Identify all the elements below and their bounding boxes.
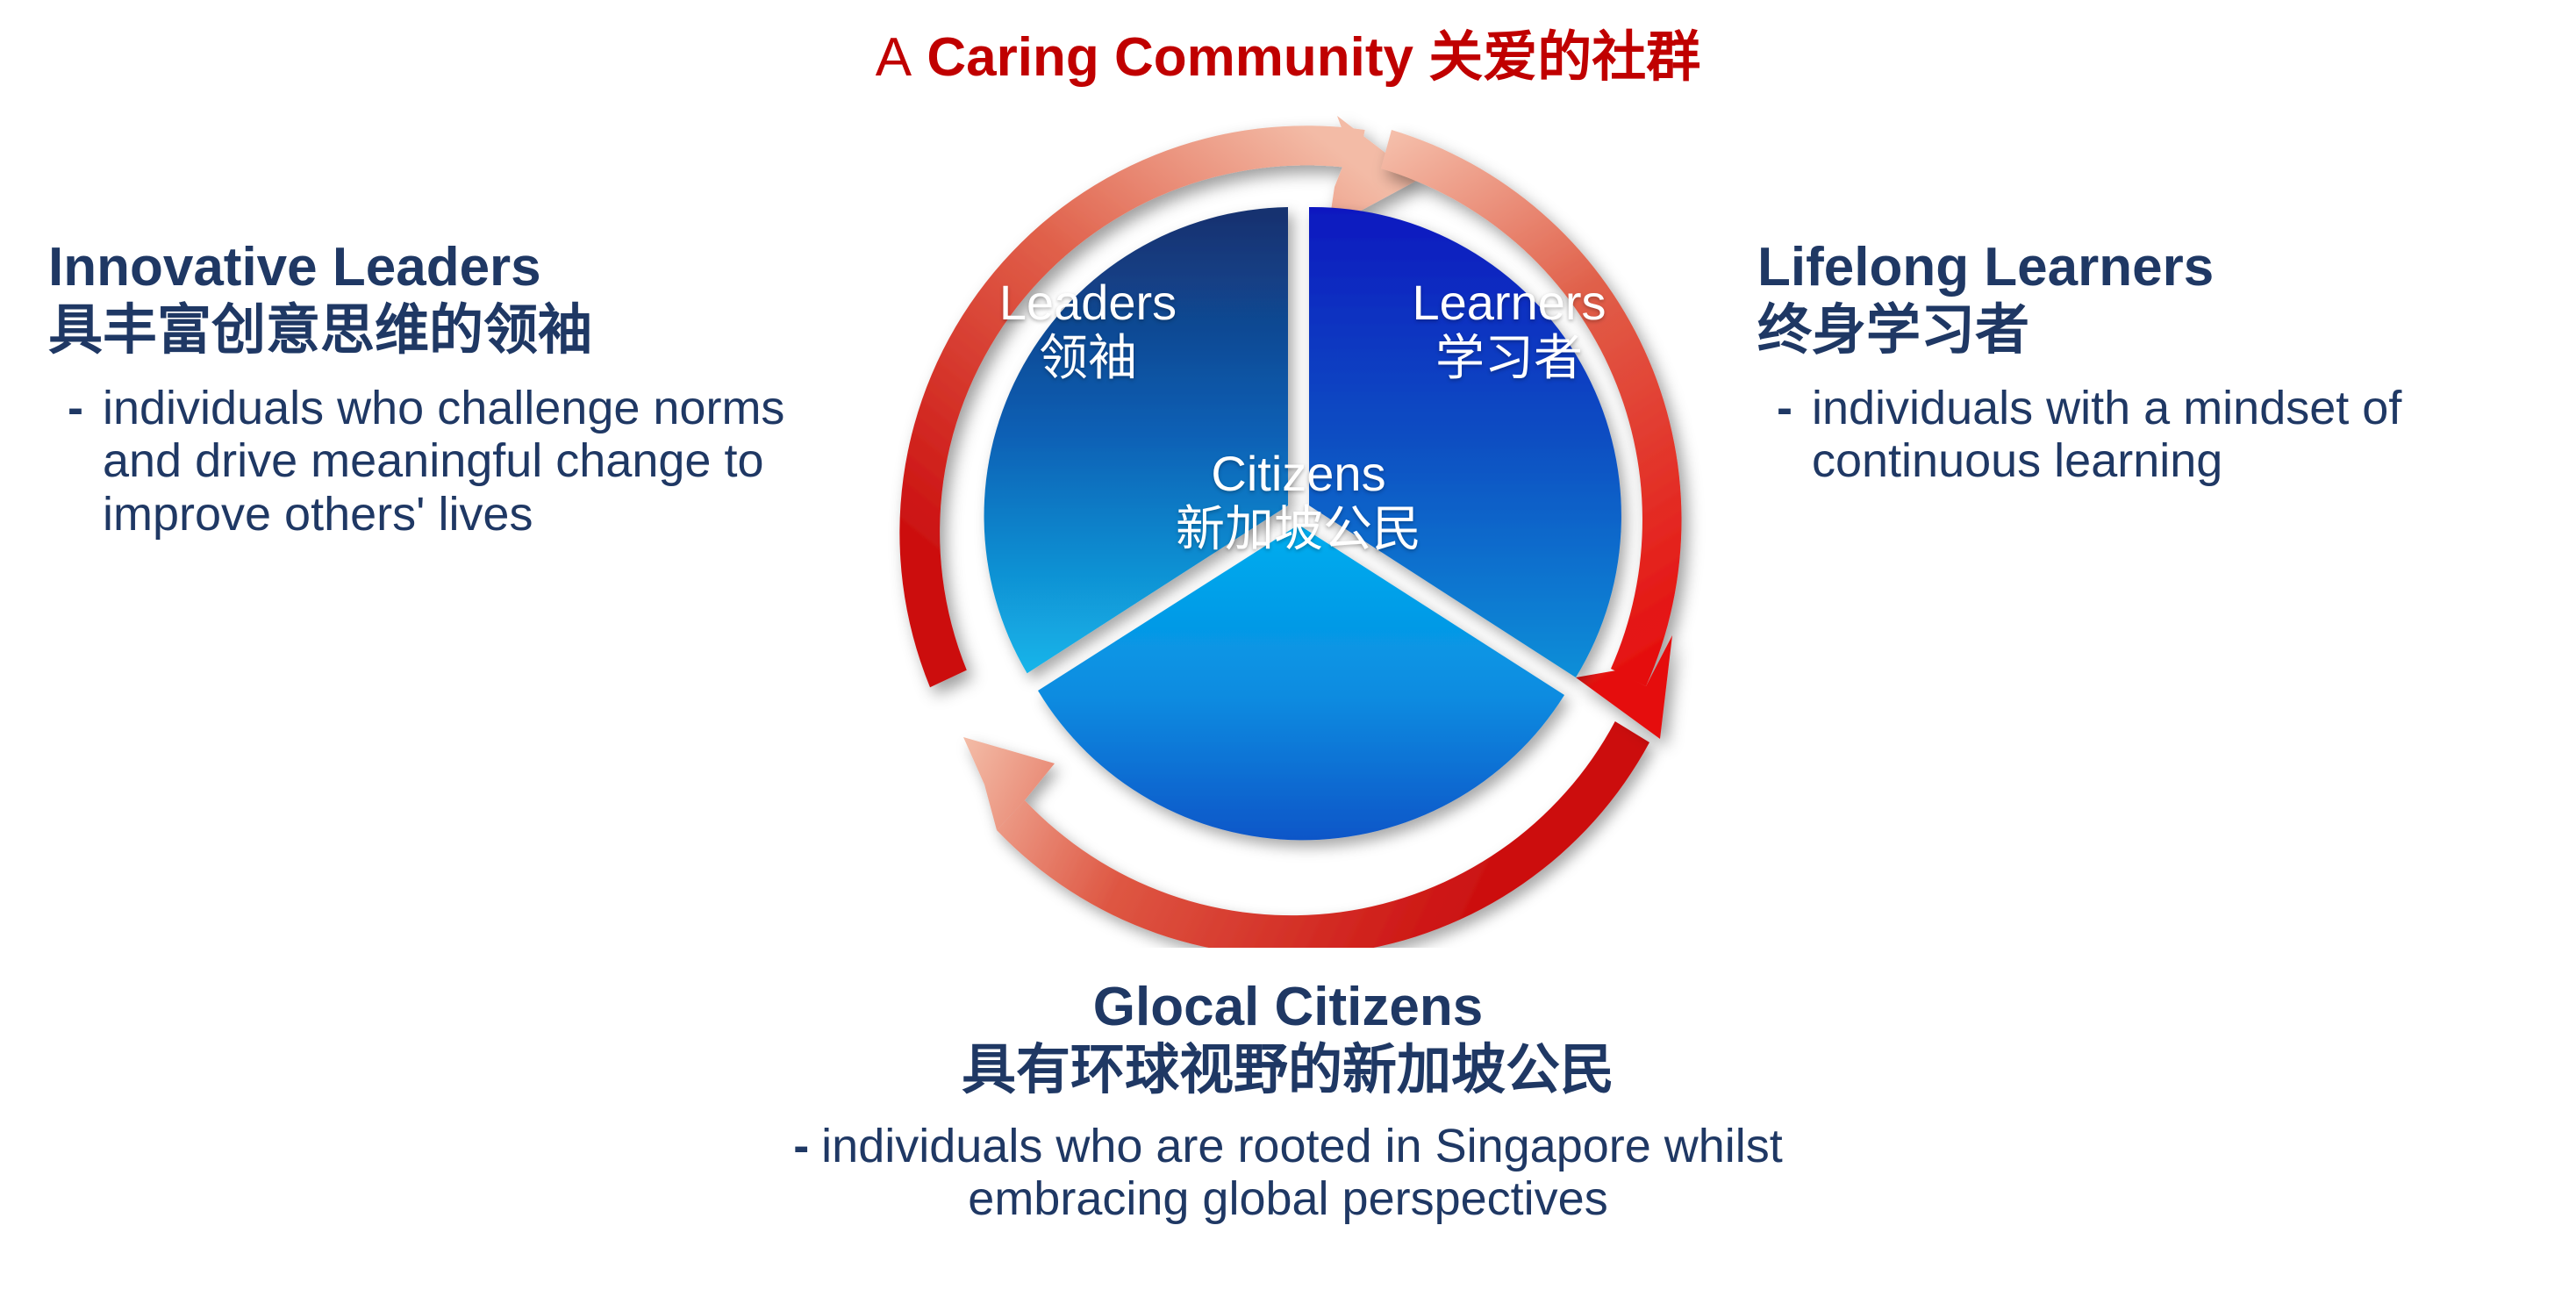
right-heading-en: Lifelong Learners xyxy=(1757,239,2547,297)
bullet-dash-icon: - xyxy=(1777,382,1792,434)
segment-leaders-zh: 领袖 xyxy=(943,328,1233,388)
segment-learners-en: Learners xyxy=(1364,276,1654,328)
page-title: A Caring Community 关爱的社群 xyxy=(0,12,2576,91)
bottom-heading-en: Glocal Citizens xyxy=(0,978,2576,1037)
left-heading-zh: 具丰富创意思维的领袖 xyxy=(48,297,934,364)
segment-label-learners: Learners 学习者 xyxy=(1364,276,1654,389)
bottom-bullet-line-2: embracing global perspectives xyxy=(0,1172,2576,1225)
bottom-bullet-line-1: -individuals who are rooted in Singapore… xyxy=(0,1120,2576,1172)
bullet-dash-icon: - xyxy=(793,1120,809,1172)
segment-label-leaders: Leaders 领袖 xyxy=(943,276,1233,389)
lifelong-learners-block: Lifelong Learners 终身学习者 - individuals wi… xyxy=(1757,239,2547,488)
right-bullet-row: - individuals with a mindset of continuo… xyxy=(1757,382,2547,488)
segment-learners-zh: 学习者 xyxy=(1364,328,1654,388)
bottom-bullet-block: -individuals who are rooted in Singapore… xyxy=(0,1120,2576,1226)
glocal-citizens-block: Glocal Citizens 具有环球视野的新加坡公民 -individual… xyxy=(0,978,2576,1226)
title-main-zh: 关爱的社群 xyxy=(1428,27,1700,88)
three-part-cycle-diagram: Leaders 领袖 Learners 学习者 Citizens 新加坡公民 xyxy=(869,88,1728,948)
left-bullet-text: individuals who challenge norms and driv… xyxy=(103,382,875,541)
left-heading-en: Innovative Leaders xyxy=(48,239,934,297)
bottom-bullet-text-1: individuals who are rooted in Singapore … xyxy=(821,1120,1783,1172)
segment-citizens-en: Citizens xyxy=(1154,448,1443,499)
innovative-leaders-block: Innovative Leaders 具丰富创意思维的领袖 - individu… xyxy=(48,239,934,541)
segment-leaders-en: Leaders xyxy=(943,276,1233,328)
bottom-heading-zh: 具有环球视野的新加坡公民 xyxy=(0,1037,2576,1104)
left-bullet-row: - individuals who challenge norms and dr… xyxy=(48,382,934,541)
title-article: A xyxy=(876,27,912,88)
segment-citizens-zh: 新加坡公民 xyxy=(1154,499,1443,559)
segment-label-citizens: Citizens 新加坡公民 xyxy=(1154,448,1443,560)
bullet-dash-icon: - xyxy=(68,382,83,434)
right-bullet-text: individuals with a mindset of continuous… xyxy=(1812,382,2479,488)
title-main-en: Caring Community xyxy=(927,27,1413,88)
right-heading-zh: 终身学习者 xyxy=(1757,297,2547,364)
